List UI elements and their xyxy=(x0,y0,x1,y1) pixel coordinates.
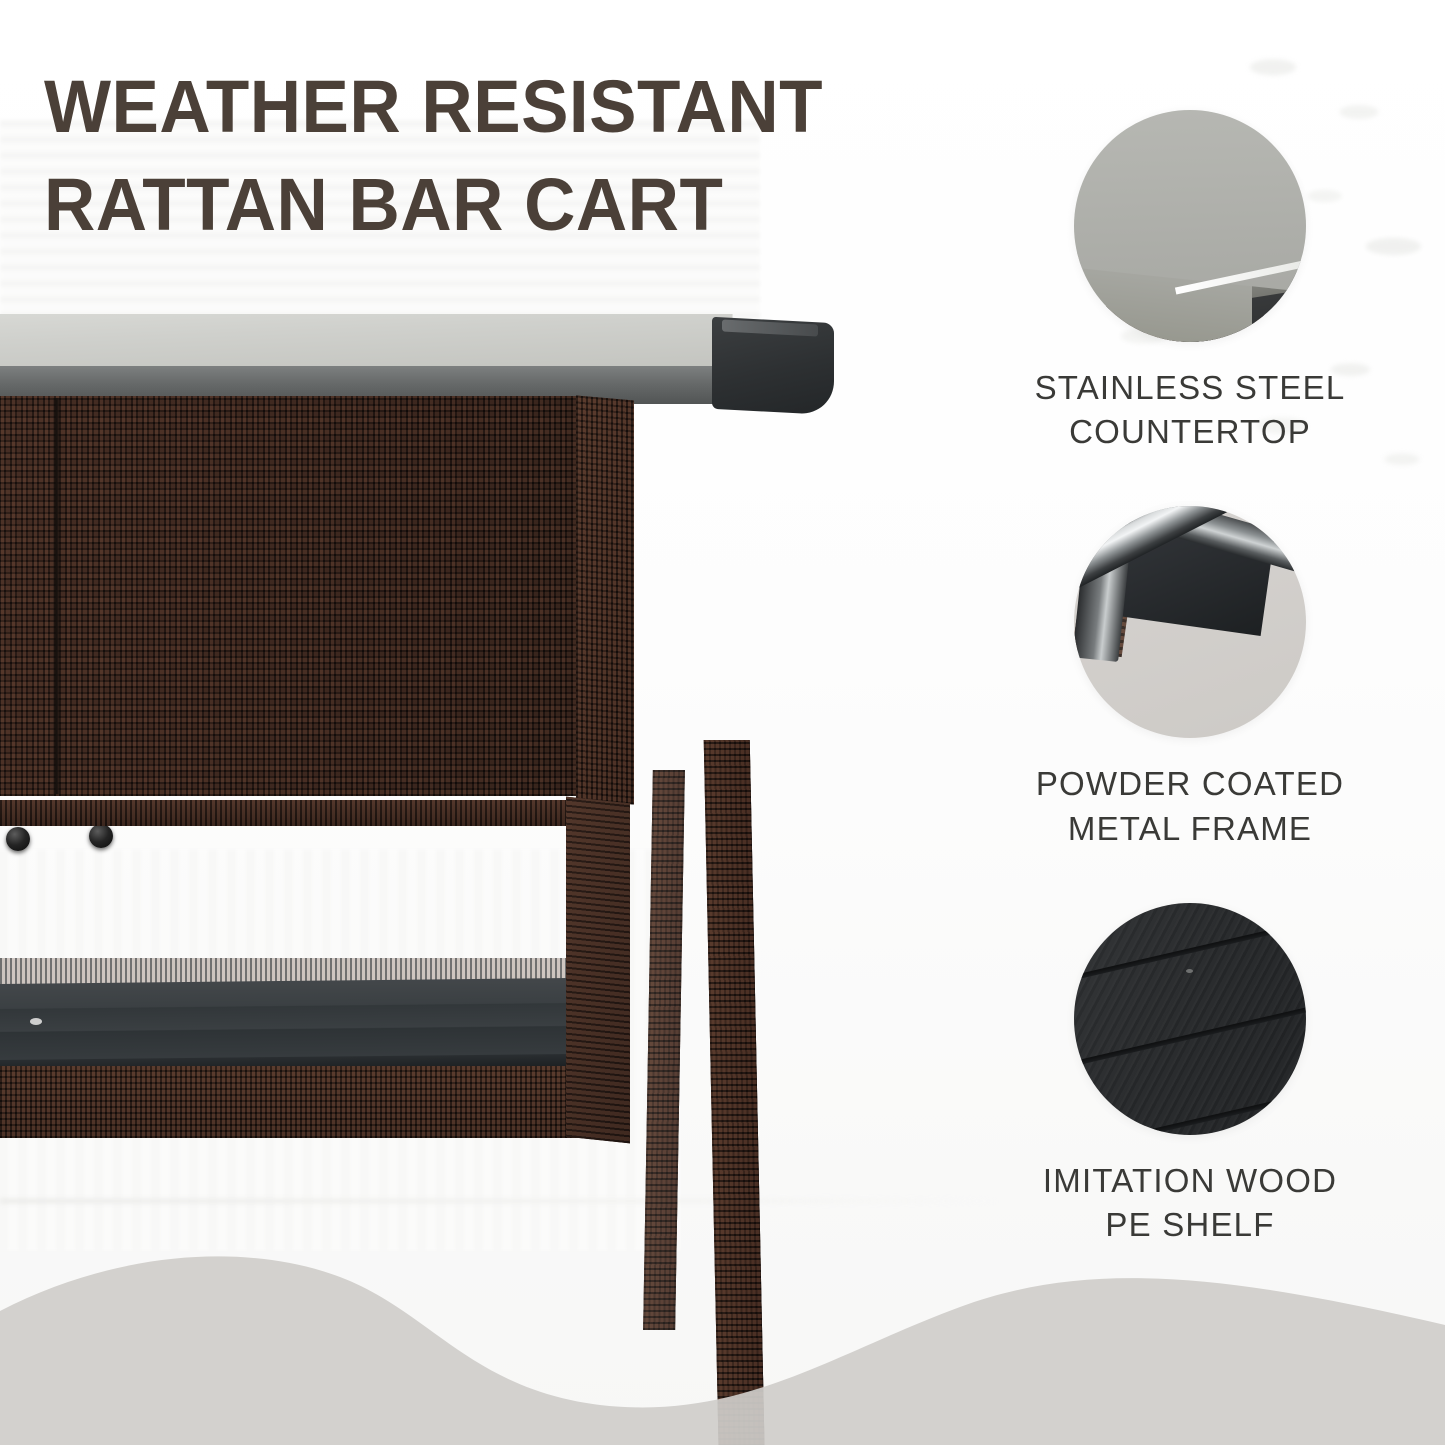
feature-label-imitation-wood-pe-shelf: IMITATION WOOD PE SHELF xyxy=(960,1159,1420,1247)
feature-callout-imitation-wood-pe-shelf: IMITATION WOOD PE SHELF xyxy=(960,903,1420,1247)
infographic-canvas: WEATHER RESISTANT RATTAN BAR CART xyxy=(0,0,1445,1445)
feature-callout-stainless-steel-countertop: STAINLESS STEEL COUNTERTOP xyxy=(960,110,1420,454)
bubble3-surface-speck xyxy=(1186,969,1193,973)
shelf-side-wicker xyxy=(566,797,630,1144)
cabinet-door-seam xyxy=(53,398,61,794)
feature-callout-powder-coated-metal-frame: POWDER COATED METAL FRAME xyxy=(960,506,1420,850)
feature-bubble-imitation-wood-pe-shelf-icon xyxy=(1074,903,1306,1135)
countertop-surface xyxy=(0,314,733,370)
cabinet-side-panel xyxy=(576,395,634,804)
shelf-open-gap xyxy=(0,824,580,964)
product-part-countertop xyxy=(0,314,750,406)
feature-label-stainless-steel-countertop: STAINLESS STEEL COUNTERTOP xyxy=(960,366,1420,454)
cabinet-bottom-rail xyxy=(0,800,590,826)
bottom-swoosh-shape xyxy=(0,1215,1445,1445)
feature-bubble-powder-coated-metal-frame-icon xyxy=(1074,506,1306,738)
feature-bubble-stainless-steel-countertop-icon xyxy=(1074,110,1306,342)
bubble3-plank-groove xyxy=(1074,988,1306,1078)
shelf-screw-head xyxy=(30,1018,42,1025)
shelf-front-wicker-rail xyxy=(0,1066,590,1138)
bubble3-plank-groove xyxy=(1074,903,1306,993)
cabinet-doors-panel xyxy=(0,396,580,796)
feature-callout-column: STAINLESS STEEL COUNTERTOP POWDER COATED… xyxy=(960,110,1420,1247)
page-title: WEATHER RESISTANT RATTAN BAR CART xyxy=(44,58,937,253)
bubble3-plank-groove xyxy=(1074,1074,1306,1135)
feature-label-powder-coated-metal-frame: POWDER COATED METAL FRAME xyxy=(960,762,1420,850)
